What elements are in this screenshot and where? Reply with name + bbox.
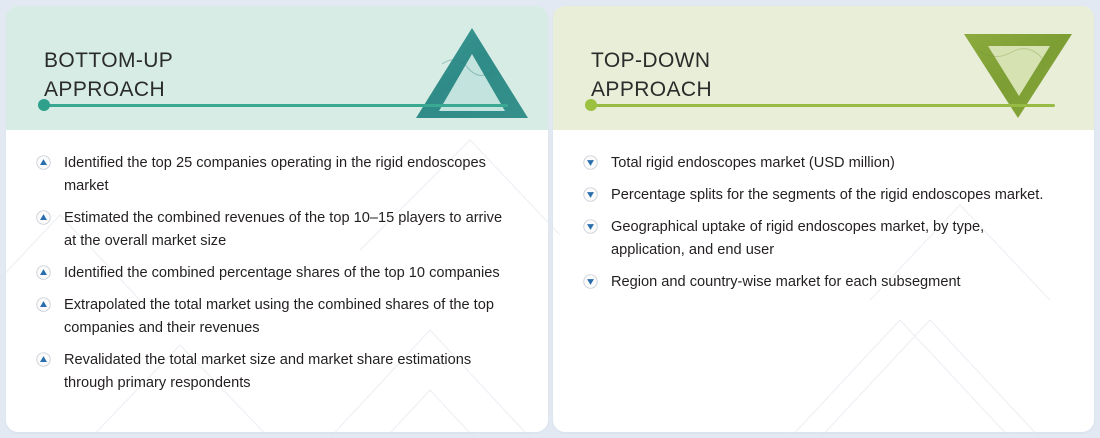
triangle-down-icon: [958, 14, 1078, 124]
list-item-text: Estimated the combined revenues of the t…: [64, 207, 516, 253]
panel-bottom-up-body: Identified the top 25 companies operatin…: [6, 130, 548, 432]
top-down-list: Total rigid endoscopes market (USD milli…: [583, 152, 1068, 294]
circle-triangle-down-icon: [583, 219, 598, 234]
circle-triangle-up-icon: [36, 352, 51, 367]
panel-top-down: TOP-DOWN APPROACH Total rigid endoscopes…: [553, 6, 1094, 432]
circle-triangle-up-icon: [36, 297, 51, 312]
list-item: Identified the top 25 companies operatin…: [36, 152, 522, 198]
list-item: Percentage splits for the segments of th…: [583, 184, 1068, 207]
panel-top-down-body: Total rigid endoscopes market (USD milli…: [553, 130, 1094, 432]
list-item-text: Extrapolated the total market using the …: [64, 294, 516, 340]
panel-top-down-title: TOP-DOWN APPROACH: [591, 46, 712, 104]
circle-triangle-up-icon: [36, 155, 51, 170]
panel-top-down-header: TOP-DOWN APPROACH: [553, 6, 1094, 130]
rule-bar: [585, 104, 1055, 107]
panel-bottom-up-header: BOTTOM-UP APPROACH: [6, 6, 548, 130]
panel-bottom-up-rule: [38, 103, 508, 107]
circle-triangle-up-icon: [36, 265, 51, 280]
triangle-up-icon: [412, 14, 532, 124]
circle-triangle-down-icon: [583, 274, 598, 289]
list-item-text: Geographical uptake of rigid endoscopes …: [611, 216, 1051, 262]
list-item: Extrapolated the total market using the …: [36, 294, 522, 340]
rule-dot: [585, 99, 597, 111]
panel-top-down-rule: [585, 103, 1055, 107]
panel-bottom-up-title: BOTTOM-UP APPROACH: [44, 46, 173, 104]
list-item-text: Identified the top 25 companies operatin…: [64, 152, 516, 198]
rule-dot: [38, 99, 50, 111]
circle-triangle-up-icon: [36, 210, 51, 225]
list-item: Identified the combined percentage share…: [36, 262, 522, 285]
list-item-text: Identified the combined percentage share…: [64, 262, 500, 285]
list-item: Estimated the combined revenues of the t…: [36, 207, 522, 253]
bottom-up-list: Identified the top 25 companies operatin…: [36, 152, 522, 395]
list-item-text: Percentage splits for the segments of th…: [611, 184, 1043, 207]
list-item-text: Revalidated the total market size and ma…: [64, 349, 516, 395]
rule-bar: [38, 104, 508, 107]
circle-triangle-down-icon: [583, 187, 598, 202]
approach-board: BOTTOM-UP APPROACH Identified the top 25…: [0, 0, 1100, 438]
panel-bottom-up: BOTTOM-UP APPROACH Identified the top 25…: [6, 6, 548, 432]
list-item: Revalidated the total market size and ma…: [36, 349, 522, 395]
circle-triangle-down-icon: [583, 155, 598, 170]
list-item: Region and country-wise market for each …: [583, 271, 1068, 294]
list-item-text: Region and country-wise market for each …: [611, 271, 961, 294]
list-item: Total rigid endoscopes market (USD milli…: [583, 152, 1068, 175]
list-item: Geographical uptake of rigid endoscopes …: [583, 216, 1068, 262]
list-item-text: Total rigid endoscopes market (USD milli…: [611, 152, 895, 175]
